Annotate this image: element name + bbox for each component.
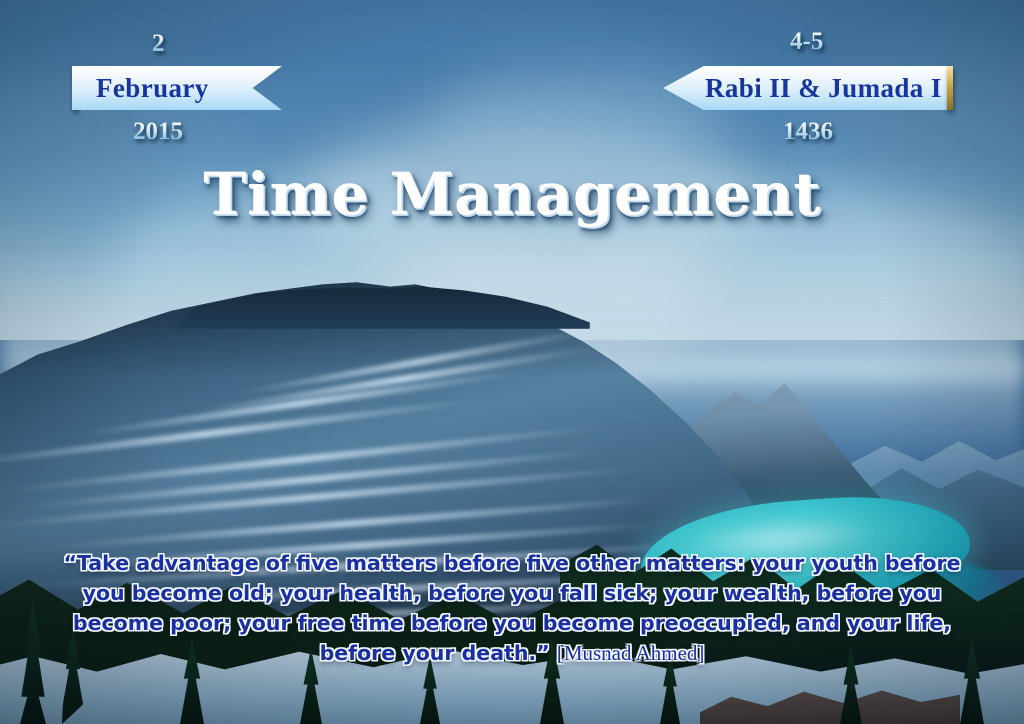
- banner-gold-edge-right: [947, 66, 953, 110]
- gregorian-day: 2: [152, 30, 165, 58]
- hijri-month-label: Rabi II & Jumada I: [705, 73, 942, 104]
- quote-text: “Take advantage of five matters before f…: [63, 551, 960, 665]
- gregorian-year: 2015: [133, 118, 183, 146]
- gregorian-month-label: February: [96, 73, 209, 104]
- hijri-month-banner[interactable]: Rabi II & Jumada I: [663, 66, 953, 110]
- poster-title: Time Management: [0, 160, 1024, 228]
- quote-block: “Take advantage of five matters before f…: [60, 548, 964, 668]
- gregorian-month-banner[interactable]: February: [72, 66, 282, 110]
- quote-source: [Musnad Ahmed]: [557, 641, 705, 665]
- hijri-year: 1436: [783, 118, 833, 146]
- quote-text-container: “Take advantage of five matters before f…: [60, 548, 964, 668]
- calendar-poster: 2 February 2015 4-5 Rabi II & Jumada I 1…: [0, 0, 1024, 724]
- hijri-day: 4-5: [790, 28, 823, 56]
